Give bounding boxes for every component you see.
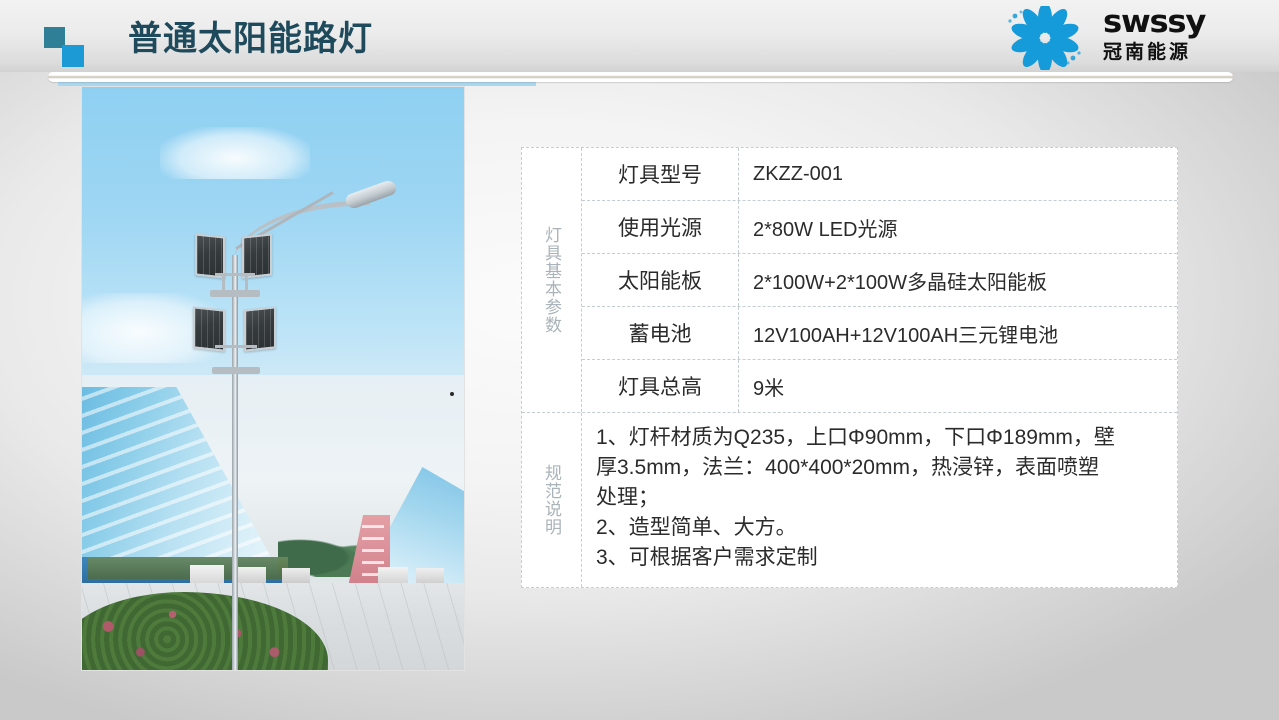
row-value: 12V100AH+12V100AH三元锂电池 (739, 307, 1177, 359)
photo-cloud (160, 127, 310, 179)
header-divider (48, 72, 1233, 82)
table-row: 太阳能板 2*100W+2*100W多晶硅太阳能板 (582, 254, 1177, 307)
row-value: ZKZZ-001 (739, 148, 1177, 200)
spec-line: 处理； (596, 483, 1163, 513)
panel-bracket (215, 273, 255, 276)
spec-note-body: 1、灯杆材质为Q235，上口Φ90mm，下口Φ189mm，壁 厚3.5mm，法兰… (582, 413, 1177, 587)
page-title: 普通太阳能路灯 (128, 18, 373, 60)
table-group-basic: 灯具基本参数 灯具型号 ZKZZ-001 使用光源 2*80W LED光源 太阳… (522, 148, 1177, 413)
table-group-spec: 规范说明 1、灯杆材质为Q235，上口Φ90mm，下口Φ189mm，壁 厚3.5… (522, 413, 1177, 587)
photo-cars (190, 565, 370, 585)
row-key: 太阳能板 (582, 254, 739, 306)
row-value: 2*100W+2*100W多晶硅太阳能板 (739, 254, 1177, 306)
solar-panel (242, 233, 272, 278)
row-key: 灯具型号 (582, 148, 739, 200)
table-row: 灯具型号 ZKZZ-001 (582, 148, 1177, 201)
spec-line: 厚3.5mm，法兰：400*400*20mm，热浸锌，表面喷塑 (596, 453, 1163, 483)
row-value: 9米 (739, 360, 1177, 412)
blue-petal-flower-icon (993, 6, 1097, 70)
solar-panel (195, 233, 225, 278)
row-key: 蓄电池 (582, 307, 739, 359)
square-light (62, 45, 84, 67)
row-value: 2*80W LED光源 (739, 201, 1177, 253)
photo-dot-mark (450, 392, 454, 396)
table-row: 灯具总高 9米 (582, 360, 1177, 412)
brand-logo: swssy 冠南能源 (993, 4, 1263, 72)
row-key: 使用光源 (582, 201, 739, 253)
lamp-pole (232, 255, 238, 670)
spec-line: 3、可根据客户需求定制 (596, 543, 1163, 573)
logo-text: swssy 冠南能源 (1103, 6, 1261, 65)
spec-line: 1、灯杆材质为Q235，上口Φ90mm，下口Φ189mm，壁 (596, 423, 1163, 453)
panel-bracket (215, 345, 257, 348)
spec-line: 2、造型简单、大方。 (596, 513, 1163, 543)
panel-bracket (212, 367, 260, 374)
vertical-header-basic: 灯具基本参数 (522, 148, 582, 412)
logo-subtext: 冠南能源 (1103, 40, 1261, 65)
vertical-header-spec: 规范说明 (522, 413, 582, 587)
solar-street-light-photo (82, 87, 464, 670)
table-row: 蓄电池 12V100AH+12V100AH三元锂电池 (582, 307, 1177, 360)
two-squares-icon (44, 27, 88, 69)
specification-table: 灯具基本参数 灯具型号 ZKZZ-001 使用光源 2*80W LED光源 太阳… (521, 147, 1178, 588)
table-row: 使用光源 2*80W LED光源 (582, 201, 1177, 254)
row-key: 灯具总高 (582, 360, 739, 412)
logo-wordmark: swssy (1103, 6, 1267, 39)
panel-bracket (210, 290, 260, 297)
slide-canvas: 普通太阳能路灯 (0, 0, 1279, 720)
